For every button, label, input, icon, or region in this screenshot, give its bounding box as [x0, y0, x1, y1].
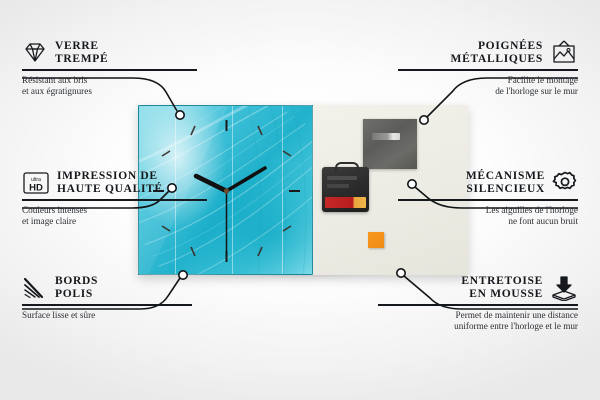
feature-title-line2: MÉTALLIQUES	[451, 53, 543, 66]
feature-divider	[22, 199, 207, 201]
ultra-hd-icon-large-label: HD	[29, 183, 43, 194]
feature-verre-trempe: VERRE TREMPÉ Résistant aux bris et aux é…	[22, 40, 197, 97]
feature-title-line2: HAUTE QUALITÉ	[57, 183, 163, 196]
feature-divider	[22, 304, 192, 306]
mechanism-label-2	[327, 184, 349, 188]
feature-title-line1: ENTRETOISE	[461, 275, 543, 288]
feature-divider	[22, 69, 197, 71]
battery	[325, 197, 366, 208]
feature-heading: ENTRETOISE EN MOUSSE	[378, 275, 578, 301]
polished-edges-icon	[22, 276, 48, 300]
feature-desc-line1: Permet de maintenir une distance	[378, 310, 578, 321]
gear-icon	[552, 170, 578, 196]
feature-mecanisme-silencieux: MÉCANISME SILENCIEUX Les aiguilles de l'…	[398, 170, 578, 227]
infographic-canvas: VERRE TREMPÉ Résistant aux bris et aux é…	[0, 0, 600, 400]
feature-title-line1: MÉCANISME	[466, 170, 545, 183]
feature-title-line2: SILENCIEUX	[466, 183, 545, 196]
metal-hanger-plate	[363, 119, 417, 169]
feature-desc-line2: de l'horloge sur le mur	[398, 86, 578, 97]
feature-title-line1: VERRE	[55, 40, 108, 53]
feature-desc-line1: Surface lisse et sûre	[22, 310, 192, 321]
feature-title-line2: EN MOUSSE	[461, 288, 543, 301]
feature-divider	[398, 199, 578, 201]
feature-impression-hd: ultra HD IMPRESSION DE HAUTE QUALITÉ Cou…	[22, 170, 207, 227]
feature-entretoise-mousse: ENTRETOISE EN MOUSSE Permet de maintenir…	[378, 275, 578, 332]
diamond-icon	[22, 42, 48, 64]
feature-desc-line2: ne font aucun bruit	[398, 216, 578, 227]
foam-spacer-icon	[550, 275, 578, 301]
feature-heading: VERRE TREMPÉ	[22, 40, 197, 66]
feature-desc-line2: et aux égratignures	[22, 86, 197, 97]
feature-desc-line1: Les aiguilles de l'horloge	[398, 205, 578, 216]
feature-bords-polis: BORDS POLIS Surface lisse et sûre	[22, 275, 192, 321]
feature-title-line2: TREMPÉ	[55, 53, 108, 66]
feature-title-line2: POLIS	[55, 288, 98, 301]
feature-desc-line2: uniforme entre l'horloge et le mur	[378, 321, 578, 332]
feature-desc-line1: Résistant aux bris	[22, 75, 197, 86]
feature-heading: MÉCANISME SILENCIEUX	[398, 170, 578, 196]
clock-minute-hand	[227, 168, 266, 191]
feature-desc-line1: Couleurs intenses	[22, 205, 207, 216]
feature-title-line1: POIGNÉES	[451, 40, 543, 53]
mechanism-label	[327, 176, 357, 180]
mechanism-hook	[335, 162, 359, 171]
ultra-hd-icon: ultra HD	[22, 171, 50, 195]
hanger-slot	[372, 133, 400, 140]
picture-frame-icon	[550, 40, 578, 66]
feature-poignees-metalliques: POIGNÉES MÉTALLIQUES Facilite le montage…	[398, 40, 578, 97]
feature-divider	[398, 69, 578, 71]
feature-desc-line1: Facilite le montage	[398, 75, 578, 86]
feature-title-line1: BORDS	[55, 275, 98, 288]
quartz-mechanism	[322, 167, 369, 212]
feature-heading: BORDS POLIS	[22, 275, 192, 301]
clock-center-cap	[224, 188, 229, 193]
feature-divider	[378, 304, 578, 306]
foam-spacer	[368, 232, 384, 248]
feature-heading: POIGNÉES MÉTALLIQUES	[398, 40, 578, 66]
feature-heading: ultra HD IMPRESSION DE HAUTE QUALITÉ	[22, 170, 207, 196]
feature-desc-line2: et image claire	[22, 216, 207, 227]
feature-title-line1: IMPRESSION DE	[57, 170, 163, 183]
